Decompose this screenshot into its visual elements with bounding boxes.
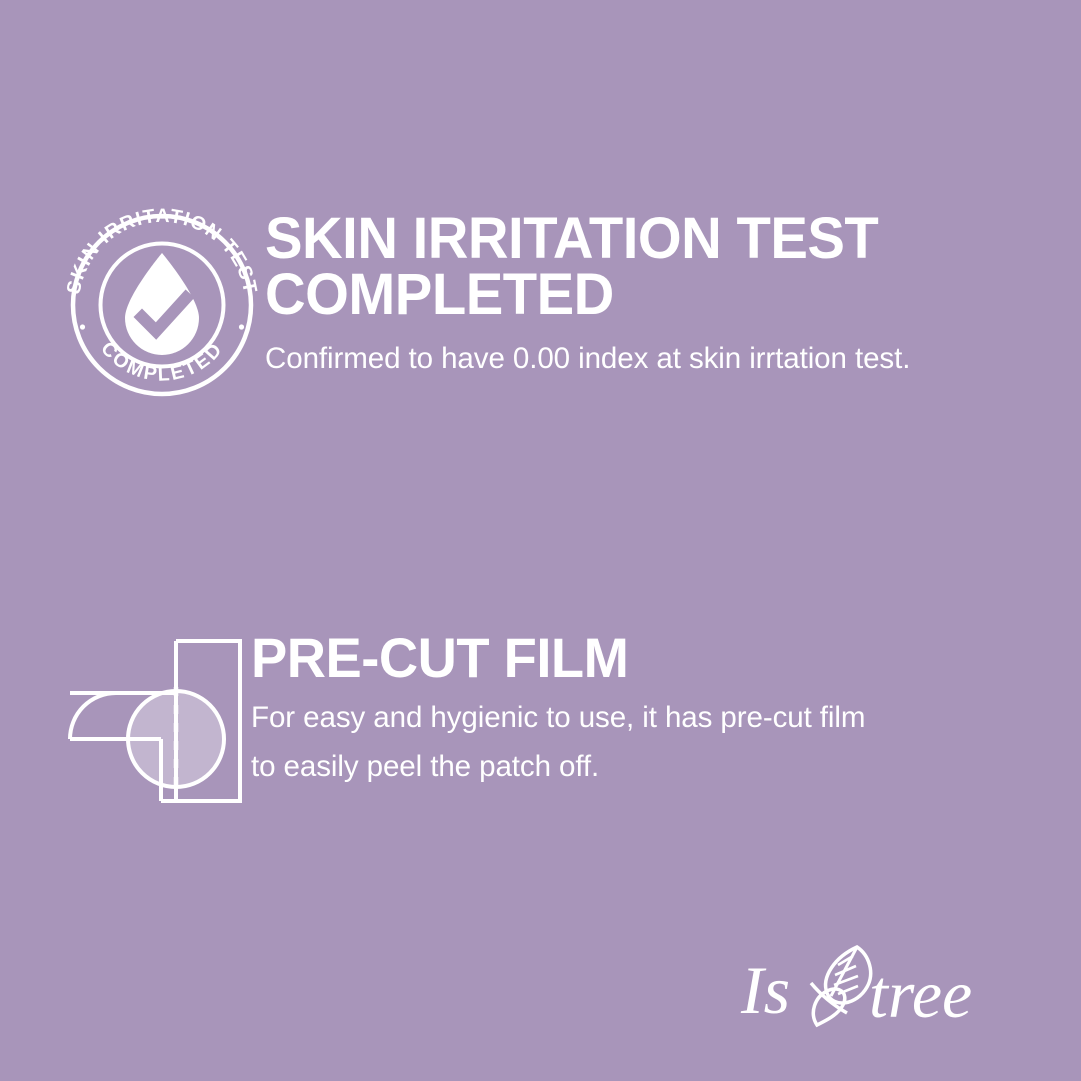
feature-body-text: For easy and hygienic to use, it has pre… <box>251 694 1069 791</box>
feature-text-skin-irritation-test: SKIN IRRITATION TEST COMPLETED Confirmed… <box>262 205 1081 383</box>
leaf-icon <box>826 947 871 1003</box>
feature-headline: PRE-CUT FILM <box>251 625 1056 685</box>
logo-letters-before-leaf: Is <box>740 952 790 1028</box>
water-droplet-with-checkmark-icon <box>125 253 199 355</box>
feature-headline: SKIN IRRITATION TEST COMPLETED <box>265 205 1057 324</box>
logo-letters-after-leaf: tree <box>869 956 972 1032</box>
pre-cut-film-sheet-icon <box>48 625 248 810</box>
skin-irritation-test-badge-icon: SKIN IRRITATION TEST COMPLETED <box>62 205 262 400</box>
feature-body-text: Confirmed to have 0.00 index at skin irr… <box>265 335 1069 384</box>
feature-text-pre-cut-film: PRE-CUT FILM For easy and hygienic to us… <box>248 625 1081 792</box>
isntree-leaf-wordmark-logo: Is tree <box>739 939 1019 1035</box>
feature-block-skin-irritation-test: SKIN IRRITATION TEST COMPLETED SKIN IRRI… <box>0 205 1081 400</box>
promo-canvas: SKIN IRRITATION TEST COMPLETED SKIN IRRI… <box>0 0 1081 1081</box>
feature-block-pre-cut-film: PRE-CUT FILM For easy and hygienic to us… <box>0 625 1081 810</box>
